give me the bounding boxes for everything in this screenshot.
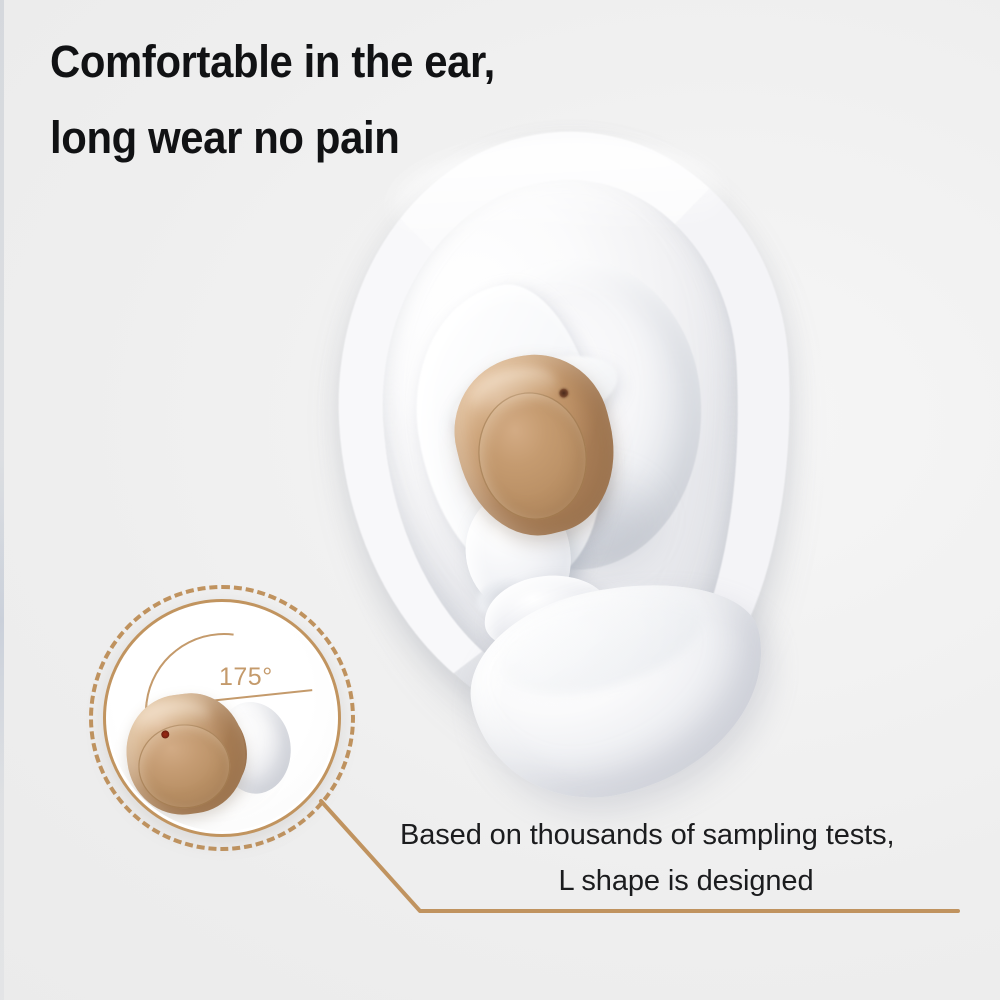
angle-value-label: 175° <box>219 663 273 692</box>
earbud-side-profile <box>120 681 302 827</box>
caption-line-1: Based on thousands of sampling tests, <box>400 812 990 858</box>
left-edge-line <box>0 0 4 1000</box>
product-marketing-image: Comfortable in the ear, long wear no pai… <box>0 0 1000 1000</box>
magnifier-callout: 175° <box>89 585 355 851</box>
caption-line-2: L shape is designed <box>400 858 990 904</box>
caption-text: Based on thousands of sampling tests, L … <box>400 812 990 904</box>
magnifier-content: 175° <box>109 605 335 831</box>
headline-line-1: Comfortable in the ear, <box>50 24 701 100</box>
